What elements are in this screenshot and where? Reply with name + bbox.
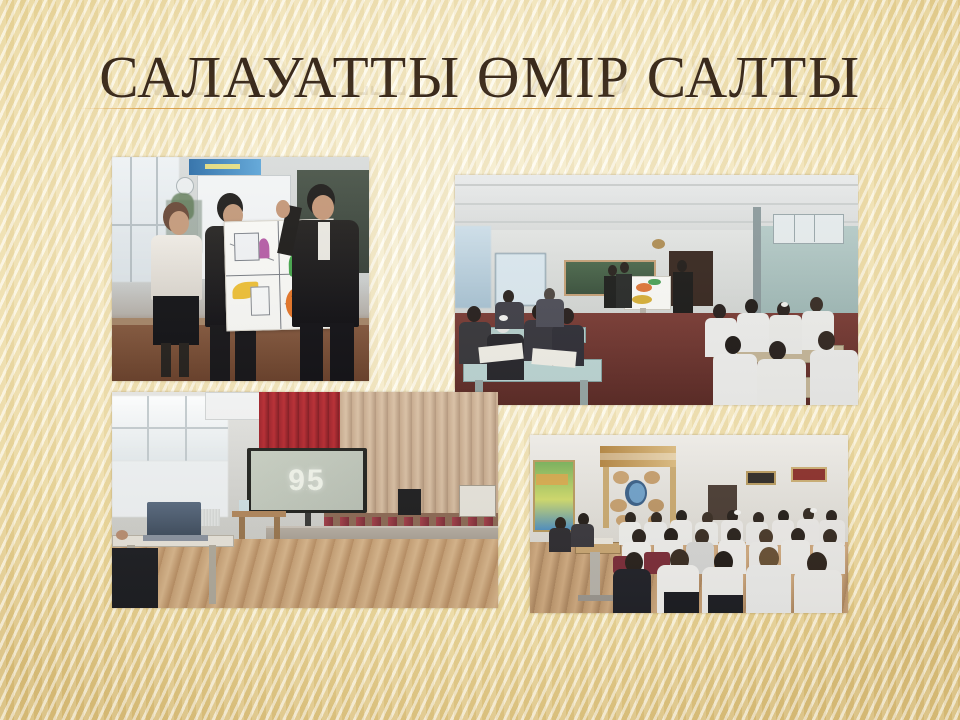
presentation-slide: САЛАУАТТЫ ӨМІР САЛТЫ САЛАУАТТЫ ӨМІР САЛТ… [0,0,960,720]
photo-classroom-scene [455,175,858,405]
photo-poster-scene [112,157,369,381]
title-block: САЛАУАТТЫ ӨМІР САЛТЫ САЛАУАТТЫ ӨМІР САЛТ… [0,48,960,166]
photo-classroom-audience[interactable] [455,175,858,405]
photo-assembly-hall[interactable]: 95 ········· [112,392,498,608]
photo-auditorium-students[interactable] [530,435,848,613]
projection-screen-caption: ········· [247,487,367,493]
title-divider-rule [78,108,898,109]
title-reflection: САЛАУАТТЫ ӨМІР САЛТЫ [0,46,960,105]
photo-audience-scene [530,435,848,613]
photo-hall-scene: 95 ········· [112,392,498,608]
photo-poster-presentation[interactable] [112,157,369,381]
